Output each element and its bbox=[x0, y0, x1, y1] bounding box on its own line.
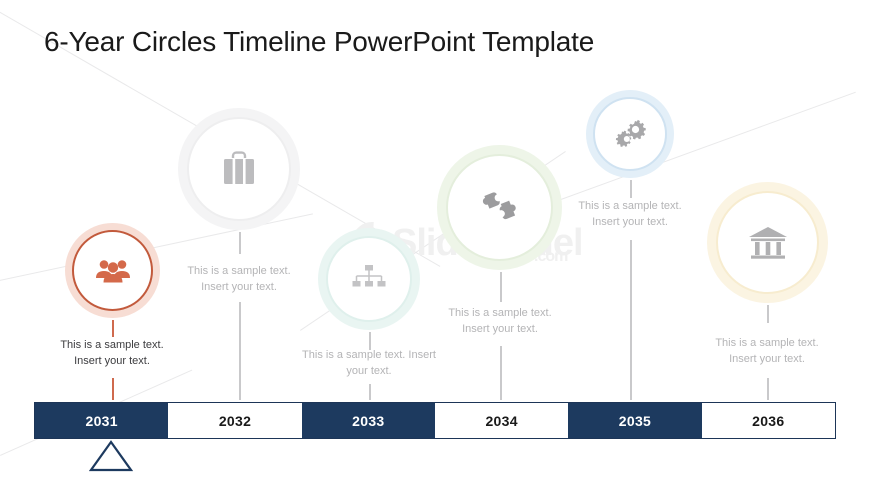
timeline-marker-triangle[interactable] bbox=[89, 440, 133, 472]
milestone-stem-5-lower bbox=[630, 240, 632, 400]
milestone-node-5[interactable] bbox=[586, 90, 674, 178]
timeline-year-bar: 2031 2032 2033 2034 2035 2036 bbox=[34, 402, 836, 439]
briefcase-icon bbox=[220, 151, 258, 187]
milestone-caption-4: This is a sample text. Insert your text. bbox=[420, 306, 580, 338]
year-cell-2032[interactable]: 2032 bbox=[168, 403, 301, 438]
gears-icon bbox=[613, 118, 647, 150]
milestone-caption-3: This is a sample text. Insert your text. bbox=[288, 348, 450, 380]
bank-icon bbox=[747, 225, 789, 261]
milestone-node-4[interactable] bbox=[437, 145, 562, 270]
milestone-ring-2 bbox=[187, 117, 291, 221]
milestone-stem-1-upper bbox=[112, 320, 114, 337]
milestone-stem-4-lower bbox=[500, 346, 502, 400]
org-chart-icon bbox=[351, 264, 387, 294]
milestone-caption-5: This is a sample text. Insert your text. bbox=[550, 199, 710, 231]
year-cell-2033[interactable]: 2033 bbox=[302, 403, 435, 438]
milestone-caption-6: This is a sample text. Insert your text. bbox=[687, 336, 847, 368]
year-cell-2034[interactable]: 2034 bbox=[435, 403, 568, 438]
page-title: 6-Year Circles Timeline PowerPoint Templ… bbox=[44, 26, 594, 58]
milestone-stem-6-upper bbox=[767, 305, 769, 323]
puzzle-piece-icon bbox=[477, 185, 523, 231]
milestone-stem-2-upper bbox=[239, 232, 241, 254]
milestone-ring-6 bbox=[716, 191, 819, 294]
slide-canvas: SlideModel .com 6-Year Circles Timeline … bbox=[0, 0, 870, 489]
milestone-ring-5 bbox=[593, 97, 667, 171]
milestone-caption-2: This is a sample text. Insert your text. bbox=[159, 264, 319, 296]
milestone-stem-1-lower bbox=[112, 378, 114, 400]
milestone-node-1[interactable] bbox=[65, 223, 160, 318]
users-icon bbox=[95, 257, 131, 284]
milestone-ring-1 bbox=[72, 230, 153, 311]
milestone-stem-2-lower bbox=[239, 302, 241, 400]
year-cell-2031[interactable]: 2031 bbox=[35, 403, 168, 438]
year-cell-2036[interactable]: 2036 bbox=[702, 403, 835, 438]
milestone-stem-5-upper bbox=[630, 180, 632, 198]
milestone-stem-4-upper bbox=[500, 272, 502, 302]
milestone-ring-4 bbox=[446, 154, 553, 261]
milestone-caption-1: This is a sample text. Insert your text. bbox=[32, 338, 192, 370]
milestone-node-3[interactable] bbox=[318, 228, 420, 330]
milestone-stem-6-lower bbox=[767, 378, 769, 400]
milestone-node-6[interactable] bbox=[707, 182, 828, 303]
milestone-stem-3-lower bbox=[369, 384, 371, 400]
year-cell-2035[interactable]: 2035 bbox=[568, 403, 701, 438]
milestone-node-2[interactable] bbox=[178, 108, 300, 230]
milestone-ring-3 bbox=[326, 236, 412, 322]
